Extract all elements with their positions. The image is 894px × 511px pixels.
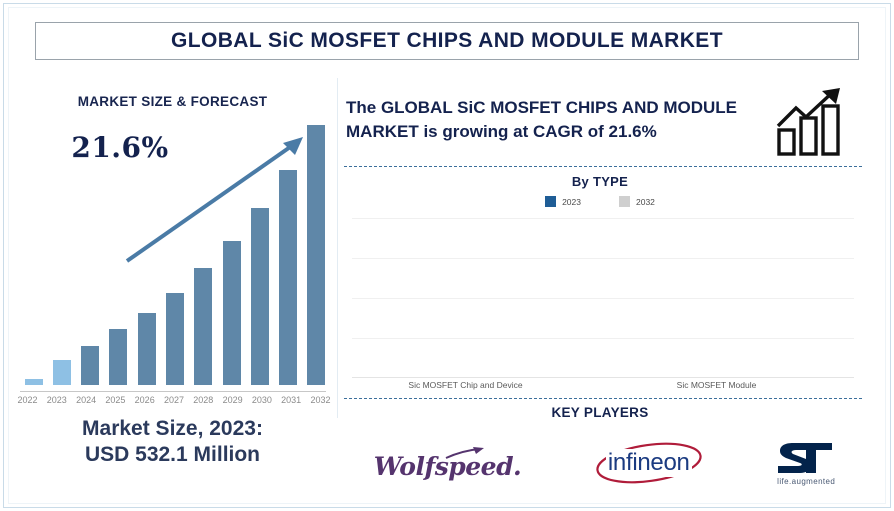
type-chart-legend: 2023 2032: [340, 196, 860, 207]
forecast-chart-axis: [20, 391, 326, 392]
legend-item-2023: 2023: [545, 196, 581, 207]
title-banner: GLOBAL SiC MOSFET CHIPS AND MODULE MARKE…: [35, 22, 859, 60]
forecast-bar-2025: [109, 329, 127, 385]
year-label: 2024: [73, 395, 100, 405]
forecast-bar-2028: [194, 268, 212, 385]
year-label: 2025: [102, 395, 129, 405]
key-players-title: KEY PLAYERS: [340, 405, 860, 420]
year-label: 2026: [131, 395, 158, 405]
wolfspeed-wordmark: Wolfspeed.: [374, 452, 522, 481]
category-label-module: Sic MOSFET Module: [591, 380, 842, 390]
st-tagline: life.augmented: [777, 477, 835, 486]
by-type-grouped-bar-chart: [352, 218, 854, 378]
year-label: 2028: [190, 395, 217, 405]
infographic-page: GLOBAL SiC MOSFET CHIPS AND MODULE MARKE…: [0, 0, 894, 511]
type-bar-groups: [352, 218, 854, 377]
year-label: 2029: [219, 395, 246, 405]
cagr-callout: 21.6%: [50, 131, 190, 164]
market-size-value: Market Size, 2023: USD 532.1 Million: [10, 416, 335, 469]
year-label: 2022: [14, 395, 41, 405]
panel-divider: [337, 78, 338, 418]
st-logo-icon: [776, 441, 836, 475]
forecast-bar-2027: [166, 293, 184, 385]
cagr-headline: The GLOBAL SiC MOSFET CHIPS AND MODULE M…: [346, 96, 746, 144]
market-size-line-1: Market Size, 2023:: [10, 416, 335, 442]
logo-wolfspeed: Wolfspeed.: [374, 446, 522, 481]
type-category-labels: Sic MOSFET Chip and Device Sic MOSFET Mo…: [340, 380, 842, 390]
legend-swatch-2023: [545, 196, 556, 207]
by-type-title: By TYPE: [340, 174, 860, 189]
legend-item-2032: 2032: [619, 196, 655, 207]
year-label: 2032: [307, 395, 334, 405]
forecast-bar-2022: [25, 379, 43, 385]
market-size-forecast-panel: MARKET SIZE & FORECAST 21.6%: [10, 78, 335, 493]
infineon-wordmark: infineon: [606, 449, 692, 477]
legend-label-2032: 2032: [636, 197, 655, 207]
type-chart-baseline: [352, 377, 854, 378]
logo-infineon: infineon: [589, 437, 709, 489]
type-breakdown-panel: The GLOBAL SiC MOSFET CHIPS AND MODULE M…: [340, 78, 888, 498]
legend-label-2023: 2023: [562, 197, 581, 207]
dashed-separator-bottom: [344, 398, 862, 399]
year-label: 2027: [160, 395, 187, 405]
dashed-separator-top: [344, 166, 862, 167]
bar-slot: [20, 100, 47, 385]
forecast-bar-2026: [138, 313, 156, 385]
key-players-logos: Wolfspeed. infineon life.augmented: [340, 428, 870, 498]
category-label-chip-and-device: Sic MOSFET Chip and Device: [340, 380, 591, 390]
legend-swatch-2032: [619, 196, 630, 207]
forecast-bar-2023: [53, 360, 71, 385]
year-label: 2023: [43, 395, 70, 405]
growth-bar-chart-arrow-icon: [774, 86, 854, 158]
year-label: 2030: [248, 395, 275, 405]
forecast-bar-2024: [81, 346, 99, 385]
logo-stmicroelectronics: life.augmented: [776, 441, 836, 486]
forecast-year-labels: 2022 2023 2024 2025 2026 2027 2028 2029 …: [14, 395, 334, 405]
market-size-line-2: USD 532.1 Million: [10, 442, 335, 468]
page-title: GLOBAL SiC MOSFET CHIPS AND MODULE MARKE…: [171, 29, 723, 53]
year-label: 2031: [278, 395, 305, 405]
